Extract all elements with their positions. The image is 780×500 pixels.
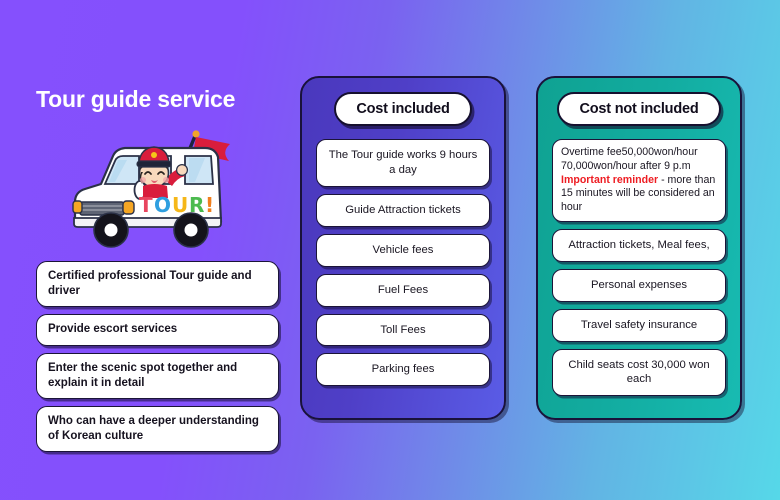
overtime-fee-note[interactable]: Overtime fee50,000won/hour 70,000won/hou… (552, 139, 726, 222)
panel-header-cost-included: Cost included (334, 92, 471, 126)
infographic-canvas: Tour guide service (0, 0, 780, 500)
list-item[interactable]: Vehicle fees (316, 234, 490, 267)
panel-header-cost-not-included: Cost not included (557, 92, 720, 126)
list-item[interactable]: Child seats cost 30,000 won each (552, 349, 726, 397)
important-reminder-label: Important reminder (561, 174, 658, 186)
list-item[interactable]: Personal expenses (552, 269, 726, 302)
panel-item-list: The Tour guide works 9 hours a day Guide… (316, 139, 490, 386)
list-item[interactable]: Parking fees (316, 353, 490, 386)
svg-text:T: T (139, 193, 153, 217)
tour-bus-icon: T O U R ! (55, 118, 250, 258)
left-column: Tour guide service (30, 86, 288, 119)
list-item[interactable]: Certified professional Tour guide and dr… (36, 261, 279, 307)
svg-text:!: ! (205, 193, 214, 217)
list-item[interactable]: Fuel Fees (316, 274, 490, 307)
list-item[interactable]: Provide escort services (36, 314, 279, 345)
page-title: Tour guide service (30, 86, 288, 113)
list-item[interactable]: The Tour guide works 9 hours a day (316, 139, 490, 187)
svg-text:O: O (154, 193, 171, 217)
list-item[interactable]: Attraction tickets, Meal fees, (552, 229, 726, 262)
list-item[interactable]: Guide Attraction tickets (316, 194, 490, 227)
list-item[interactable]: Travel safety insurance (552, 309, 726, 342)
list-item[interactable]: Enter the scenic spot together and expla… (36, 353, 279, 399)
panel-cost-included: Cost included The Tour guide works 9 hou… (300, 76, 506, 420)
list-item[interactable]: Who can have a deeper understanding of K… (36, 406, 279, 452)
overtime-line-2: 70,000won/hour after 9 p.m (561, 160, 718, 174)
feature-list: Certified professional Tour guide and dr… (36, 261, 279, 452)
panel-item-list: Overtime fee50,000won/hour 70,000won/hou… (552, 139, 726, 396)
overtime-line-1: Overtime fee50,000won/hour (561, 146, 718, 160)
list-item[interactable]: Toll Fees (316, 314, 490, 347)
panel-cost-not-included: Cost not included Overtime fee50,000won/… (536, 76, 742, 420)
